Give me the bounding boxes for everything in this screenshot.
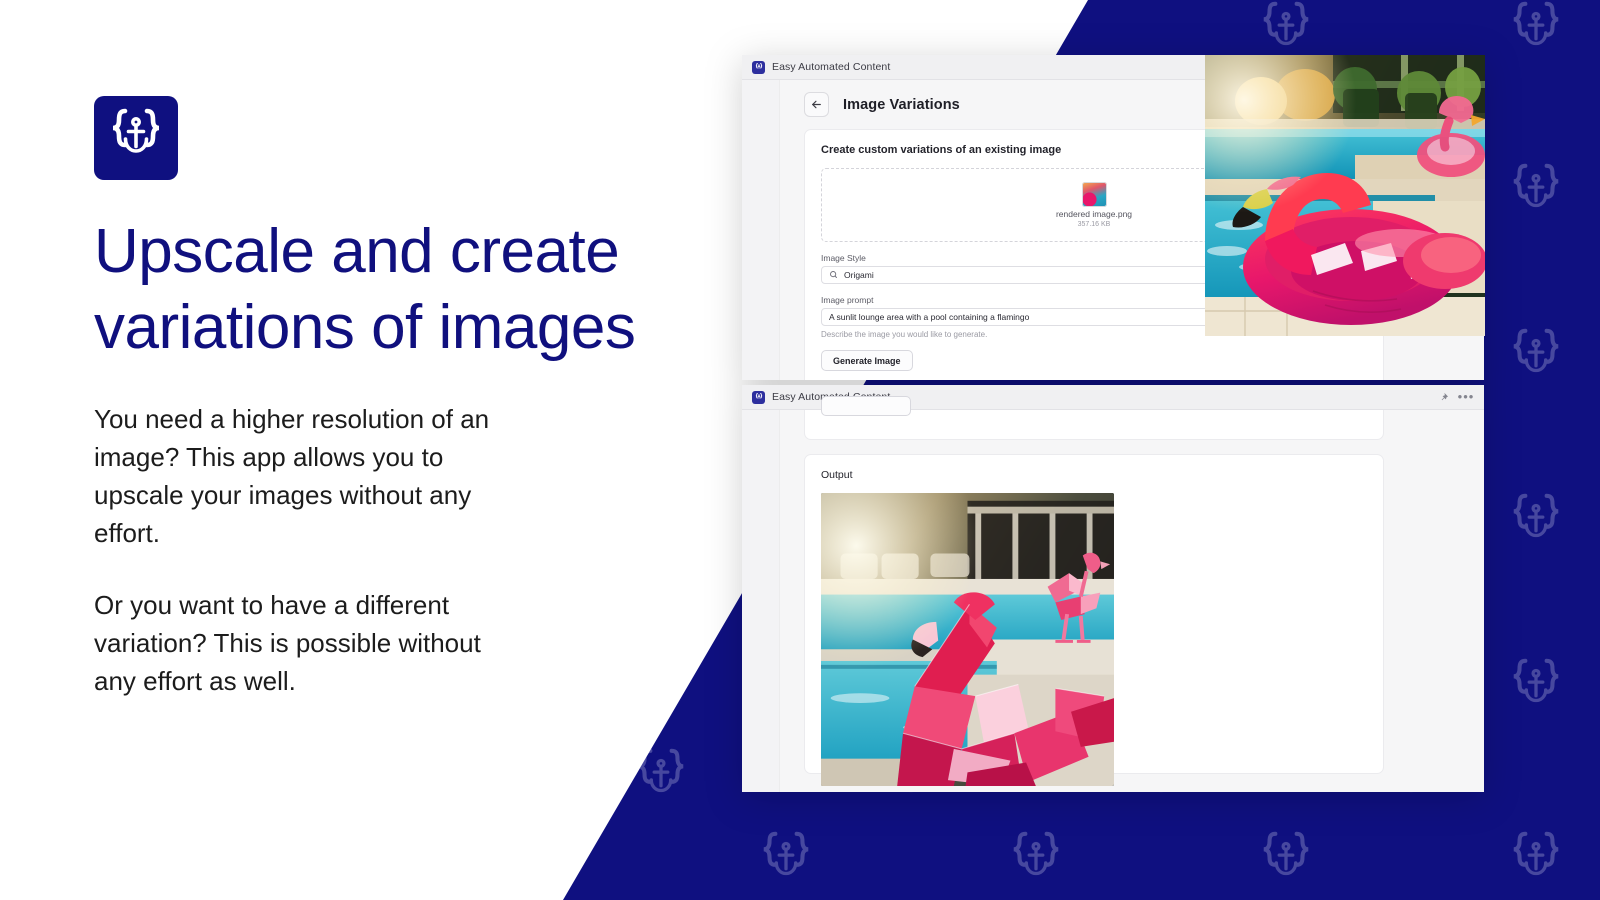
form-card-bottom-edge	[804, 410, 1384, 440]
generate-image-button[interactable]: Generate Image	[821, 350, 913, 371]
uploaded-file-name: rendered image.png	[1056, 209, 1132, 219]
more-options-icon[interactable]: •••	[1458, 389, 1474, 405]
sidebar-rail	[742, 80, 780, 380]
window-title: Easy Automated Content	[772, 61, 890, 73]
generated-output-image	[821, 493, 1114, 786]
image-prompt-value: A sunlit lounge area with a pool contain…	[829, 312, 1029, 322]
window-body: Output	[742, 410, 1484, 792]
arrow-left-icon[interactable]	[804, 92, 829, 117]
image-style-value: Origami	[844, 270, 874, 280]
output-card: Output	[804, 454, 1384, 774]
body-paragraph-1: You need a higher resolution of an image…	[94, 401, 514, 553]
window-output: Easy Automated Content ••• Output	[742, 385, 1484, 792]
image-thumbnail	[1082, 182, 1107, 207]
screen-title: Image Variations	[843, 97, 960, 113]
marketing-panel: Upscale and create variations of images …	[94, 96, 694, 701]
brand-logo	[94, 96, 178, 180]
sidebar-rail	[742, 410, 780, 792]
uploaded-file-size: 357.16 KB	[1078, 221, 1111, 228]
page-title: Upscale and create variations of images	[94, 214, 684, 365]
body-paragraph-2: Or you want to have a different variatio…	[94, 587, 514, 701]
generate-image-button-partial[interactable]	[821, 396, 911, 416]
app-logo-icon	[752, 61, 765, 74]
app-logo-icon	[752, 391, 765, 404]
output-label: Output	[821, 469, 1367, 481]
window-content: Output	[780, 410, 1484, 792]
search-icon	[829, 266, 838, 284]
pin-icon[interactable]	[1435, 389, 1451, 405]
source-image-preview	[1205, 55, 1485, 336]
braces-anchor-icon	[104, 104, 168, 173]
